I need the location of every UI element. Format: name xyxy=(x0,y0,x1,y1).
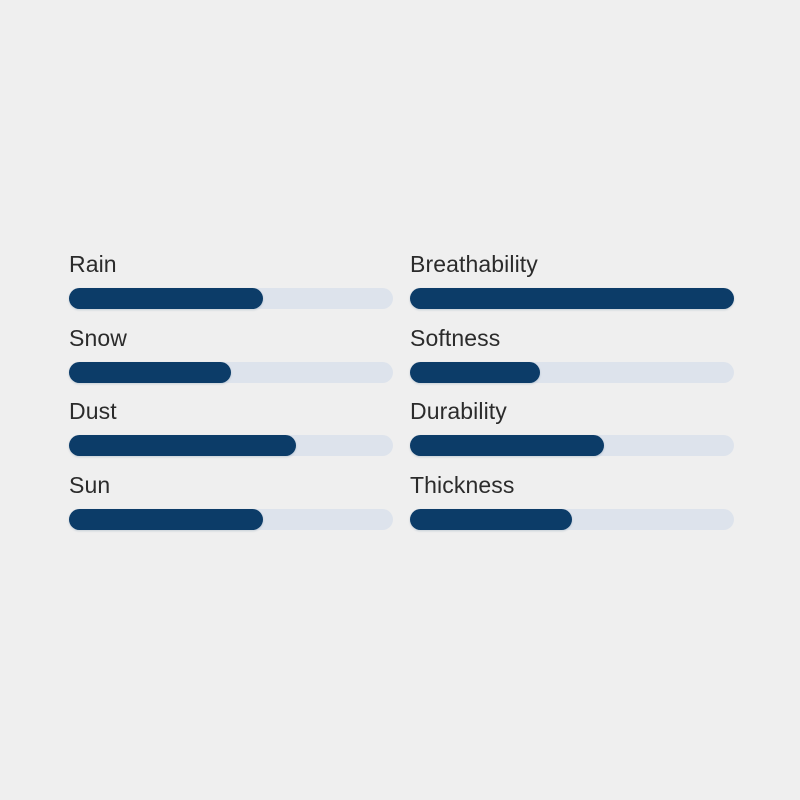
meter-label: Softness xyxy=(410,325,734,352)
meter-label: Thickness xyxy=(410,472,734,499)
meter-track[interactable] xyxy=(69,509,393,530)
meter-row: Softness xyxy=(410,325,734,399)
meter-label: Sun xyxy=(69,472,393,499)
meter-row: Rain xyxy=(69,251,393,325)
meter-track[interactable] xyxy=(410,362,734,383)
ratings-panel: Rain Snow Dust Sun xyxy=(0,0,800,800)
meter-label: Breathability xyxy=(410,251,734,278)
meter-row: Dust xyxy=(69,398,393,472)
right-column: Breathability Softness Durability Thickn… xyxy=(410,251,734,545)
meter-label: Durability xyxy=(410,398,734,425)
meter-fill xyxy=(69,362,231,383)
meter-track[interactable] xyxy=(69,435,393,456)
left-column: Rain Snow Dust Sun xyxy=(69,251,393,545)
meter-fill xyxy=(69,435,296,456)
meter-row: Breathability xyxy=(410,251,734,325)
meter-columns: Rain Snow Dust Sun xyxy=(69,251,734,545)
meter-row: Snow xyxy=(69,325,393,399)
meter-track[interactable] xyxy=(410,509,734,530)
meter-track[interactable] xyxy=(69,362,393,383)
meter-fill xyxy=(410,435,604,456)
meter-fill xyxy=(69,509,263,530)
meter-fill xyxy=(69,288,263,309)
meter-label: Rain xyxy=(69,251,393,278)
meter-track[interactable] xyxy=(69,288,393,309)
meter-fill xyxy=(410,509,572,530)
meter-row: Thickness xyxy=(410,472,734,546)
meter-track[interactable] xyxy=(410,288,734,309)
meter-fill xyxy=(410,362,540,383)
meter-label: Dust xyxy=(69,398,393,425)
meter-track[interactable] xyxy=(410,435,734,456)
meter-row: Durability xyxy=(410,398,734,472)
meter-fill xyxy=(410,288,734,309)
meter-row: Sun xyxy=(69,472,393,546)
meter-label: Snow xyxy=(69,325,393,352)
